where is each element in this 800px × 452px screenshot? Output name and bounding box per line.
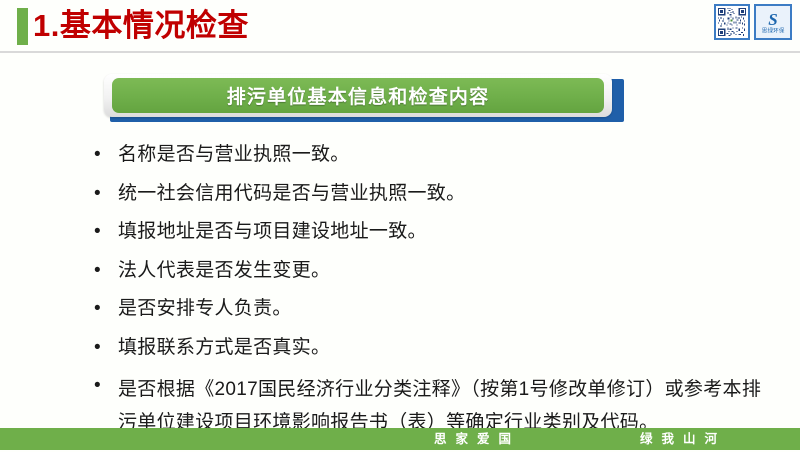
bullet-icon: •	[94, 373, 118, 399]
title-accent-bar	[17, 8, 28, 45]
slide-footer: 思家爱国 绿我山河	[0, 428, 800, 450]
banner-white-frame: 排污单位基本信息和检查内容	[104, 74, 612, 117]
brand-name: 思绿环保	[762, 27, 785, 33]
footer-slogan-right: 绿我山河	[640, 428, 726, 450]
bullet-icon: •	[94, 335, 118, 361]
header-divider	[0, 51, 800, 53]
list-item: • 名称是否与营业执照一致。	[94, 142, 774, 168]
list-item-text: 填报地址是否与项目建设地址一致。	[118, 219, 774, 245]
page-title: 1.基本情况检查	[33, 6, 249, 46]
logo-cluster: S 思绿环保	[714, 4, 792, 40]
bullet-icon: •	[94, 258, 118, 284]
list-item: • 填报联系方式是否真实。	[94, 335, 774, 361]
bullet-icon: •	[94, 219, 118, 245]
list-item: • 填报地址是否与项目建设地址一致。	[94, 219, 774, 245]
brand-mark-icon: S	[768, 12, 777, 27]
list-item-text: 名称是否与营业执照一致。	[118, 142, 774, 168]
footer-slogan-left: 思家爱国	[434, 428, 520, 450]
bullet-icon: •	[94, 181, 118, 207]
list-item: • 法人代表是否发生变更。	[94, 258, 774, 284]
slide-header: 1.基本情况检查	[0, 0, 800, 52]
checklist: • 名称是否与营业执照一致。 • 统一社会信用代码是否与营业执照一致。 • 填报…	[94, 142, 774, 452]
banner-green-plate: 排污单位基本信息和检查内容	[112, 78, 604, 113]
list-item-text: 统一社会信用代码是否与营业执照一致。	[118, 181, 774, 207]
section-banner: 排污单位基本信息和检查内容	[104, 74, 624, 122]
brand-logo: S 思绿环保	[754, 4, 792, 40]
banner-title: 排污单位基本信息和检查内容	[227, 82, 490, 109]
bullet-icon: •	[94, 142, 118, 168]
list-item-text: 填报联系方式是否真实。	[118, 335, 774, 361]
bullet-icon: •	[94, 296, 118, 322]
qr-code-icon	[714, 4, 750, 40]
list-item-text: 法人代表是否发生变更。	[118, 258, 774, 284]
list-item-text: 是否安排专人负责。	[118, 296, 774, 322]
list-item: • 是否安排专人负责。	[94, 296, 774, 322]
list-item: • 统一社会信用代码是否与营业执照一致。	[94, 181, 774, 207]
